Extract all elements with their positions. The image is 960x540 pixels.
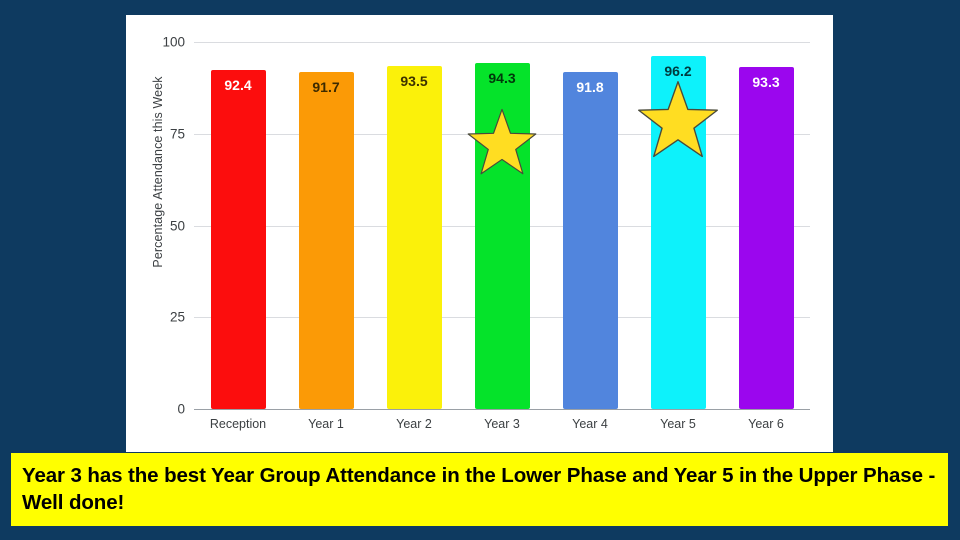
- bar-year-1[interactable]: 91.7: [299, 72, 354, 409]
- bar-value-label: 91.8: [563, 79, 618, 95]
- bar-year-3[interactable]: 94.3: [475, 63, 530, 409]
- chart-card: Percentage Attendance this Week 02550751…: [126, 15, 833, 452]
- gridline-0: 0: [194, 409, 810, 410]
- y-tick-label-25: 25: [170, 310, 185, 325]
- bar-year-6[interactable]: 93.3: [739, 67, 794, 409]
- y-tick-label-50: 50: [170, 218, 185, 233]
- y-tick-label-100: 100: [162, 35, 185, 50]
- bar-value-label: 91.7: [299, 79, 354, 95]
- x-axis-label-reception: Reception: [197, 417, 280, 431]
- y-tick-label-75: 75: [170, 126, 185, 141]
- bar-value-label: 92.4: [211, 77, 266, 93]
- x-axis-label-year-4: Year 4: [549, 417, 632, 431]
- gridline-100: 100: [194, 42, 810, 43]
- x-axis-label-year-2: Year 2: [373, 417, 456, 431]
- x-axis-label-year-5: Year 5: [637, 417, 720, 431]
- bar-value-label: 93.3: [739, 74, 794, 90]
- bar-value-label: 93.5: [387, 73, 442, 89]
- y-tick-label-0: 0: [177, 402, 185, 417]
- x-axis-label-year-1: Year 1: [285, 417, 368, 431]
- caption-banner: Year 3 has the best Year Group Attendanc…: [11, 453, 948, 526]
- bar-year-5[interactable]: 96.2: [651, 56, 706, 409]
- bar-reception[interactable]: 92.4: [211, 70, 266, 409]
- bar-value-label: 96.2: [651, 63, 706, 79]
- caption-text: Year 3 has the best Year Group Attendanc…: [22, 462, 936, 516]
- bar-year-4[interactable]: 91.8: [563, 72, 618, 409]
- bar-value-label: 94.3: [475, 70, 530, 86]
- y-axis-title: Percentage Attendance this Week: [151, 72, 165, 272]
- x-axis-label-year-3: Year 3: [461, 417, 544, 431]
- x-axis-label-year-6: Year 6: [725, 417, 808, 431]
- bar-year-2[interactable]: 93.5: [387, 66, 442, 409]
- plot-area: 0255075100 Reception92.4Year 191.7Year 2…: [194, 42, 810, 409]
